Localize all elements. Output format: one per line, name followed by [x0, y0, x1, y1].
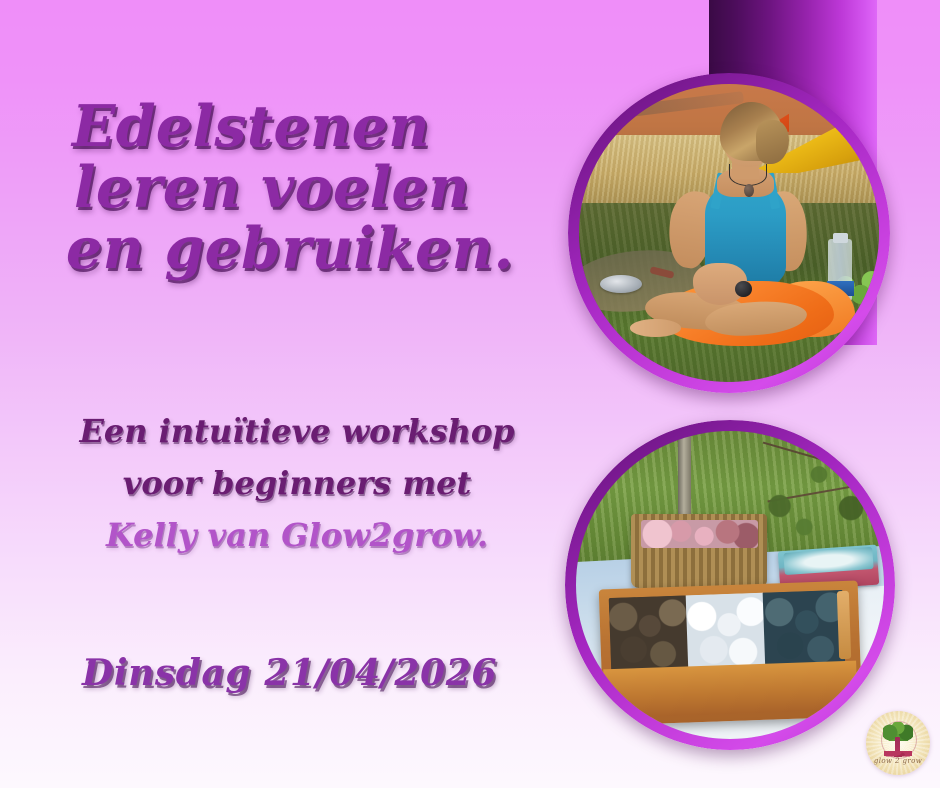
poster-headline: Edelstenen leren voelen en gebruiken. — [72, 96, 542, 279]
scene-rose-quartz-stones — [641, 520, 758, 548]
scene-wristwatch — [735, 281, 752, 298]
headline-line-2: leren voelen — [74, 157, 542, 218]
scene-dark-blue-stones — [763, 590, 845, 670]
poster-canvas: Edelstenen leren voelen en gebruiken. Ee… — [0, 0, 940, 788]
photo-woman-sitting-with-crystals — [568, 73, 890, 393]
photo-inner-bottom — [576, 431, 884, 739]
scene-tray-handle — [837, 591, 852, 659]
logo-caption: glow 2 grow — [866, 757, 930, 765]
scene-tree-trunk — [678, 431, 692, 517]
scene-bottle-cap — [833, 233, 848, 243]
scene-stone-plate — [600, 275, 642, 293]
scene-brown-tumbled-stones — [609, 596, 689, 676]
event-date: Dinsdag 21/04/2026 — [82, 652, 497, 694]
scene-crystal-display — [576, 431, 884, 739]
scene-woman-on-grass — [579, 84, 879, 382]
scene-shrub-foliage — [755, 443, 878, 548]
scene-tray-front-panel — [603, 661, 857, 719]
poster-subtitle: Een intuïtieve workshop voor beginners m… — [62, 406, 532, 561]
headline-line-1: Edelstenen — [72, 96, 542, 157]
photo-inner-top — [579, 84, 879, 382]
subtitle-line-3-presenter: Kelly van Glow2grow. — [62, 510, 532, 562]
scene-clear-quartz-stones — [686, 593, 766, 673]
photo-crystal-trays-on-table — [565, 420, 895, 750]
headline-line-3: en gebruiken. — [66, 218, 542, 279]
glow2grow-logo: glow 2 grow — [866, 711, 930, 775]
subtitle-line-1: Een intuïtieve workshop — [62, 406, 532, 458]
subtitle-line-2: voor beginners met — [62, 458, 532, 510]
